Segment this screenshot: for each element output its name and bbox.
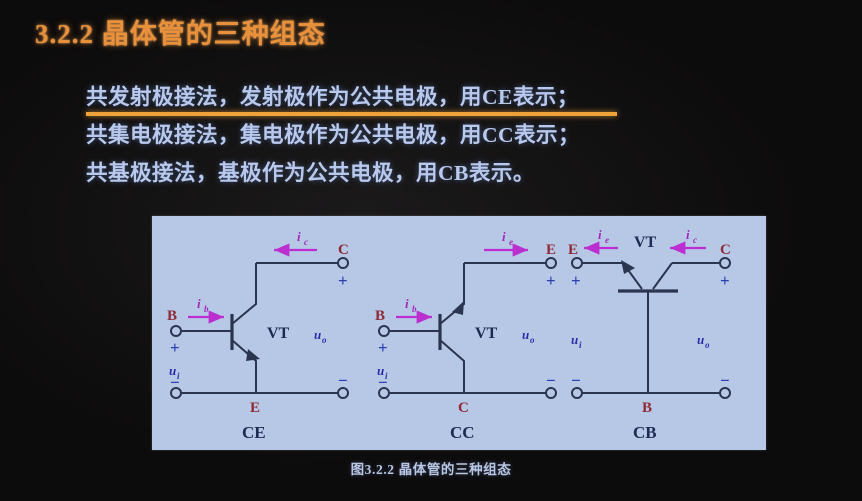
input-minus-sign: − <box>170 373 180 392</box>
bullet-line-cb: 共基极接法，基极作为公共电极，用CB表示。 <box>86 154 786 192</box>
output-minus-sign: − <box>546 371 556 390</box>
output-minus-sign: − <box>338 371 348 390</box>
output-plus-sign: + <box>720 271 730 290</box>
label-ic: i <box>297 229 301 244</box>
page-title: 3.2.2 晶体管的三种组态 <box>35 12 326 51</box>
config-label-cb: CB <box>633 423 657 442</box>
output-plus-sign: + <box>546 271 556 290</box>
slide-screen: 3.2.2 晶体管的三种组态 共发射极接法，发射极作为公共电极，用CE表示； 共… <box>0 0 862 501</box>
circuit-cb: i e i c E C B VT + u i − + u o − CB <box>568 227 731 442</box>
terminal-b: B <box>642 400 652 416</box>
figure-caption: 图3.2.2 晶体管的三种组态 <box>0 458 862 478</box>
terminal-b: B <box>375 308 385 324</box>
label-uo-sub: o <box>530 335 535 345</box>
terminal-e: E <box>250 400 260 416</box>
terminal-b: B <box>167 308 177 324</box>
input-minus-sign: − <box>378 373 388 392</box>
device-label-vt: VT <box>475 325 498 342</box>
input-plus-sign: + <box>170 338 180 357</box>
input-plus-sign: + <box>571 271 581 290</box>
device-label-vt: VT <box>267 325 290 342</box>
terminal-c: C <box>338 242 349 258</box>
figure-panel: i b i c B C E VT + u i − + u <box>152 216 766 450</box>
circuit-cc: i b i e B E C VT + u i − + u o − CC <box>375 229 556 442</box>
terminal-c: C <box>720 242 731 258</box>
bullet-list: 共发射极接法，发射极作为公共电极，用CE表示； 共集电极接法，集电极作为公共电极… <box>86 78 786 192</box>
input-plus-sign: + <box>378 338 388 357</box>
label-uo: u <box>522 327 529 342</box>
label-uo: u <box>314 327 321 342</box>
label-ui-sub: i <box>579 340 582 350</box>
circuit-ce: i b i c B C E VT + u i − + u <box>167 229 349 442</box>
terminal-e: E <box>546 242 556 258</box>
label-ie-sub: e <box>605 235 609 245</box>
input-minus-sign: − <box>571 371 581 390</box>
label-ib-sub: b <box>412 304 417 314</box>
terminal-c: C <box>458 400 469 416</box>
terminal-e: E <box>568 242 578 258</box>
label-uo-sub: o <box>705 340 710 350</box>
label-ib-sub: b <box>204 304 209 314</box>
config-label-ce: CE <box>242 423 266 442</box>
output-plus-sign: + <box>338 271 348 290</box>
label-uo-sub: o <box>322 335 327 345</box>
output-minus-sign: − <box>720 371 730 390</box>
label-ib: i <box>405 296 409 311</box>
label-ui: u <box>571 332 578 347</box>
label-ic-sub: c <box>304 237 308 247</box>
bullet-line-cc: 共集电极接法，集电极作为公共电极，用CC表示； <box>86 116 786 154</box>
label-ic: i <box>686 227 690 242</box>
bullet-line-ce: 共发射极接法，发射极作为公共电极，用CE表示； <box>86 78 786 116</box>
label-ie: i <box>598 227 602 242</box>
config-label-cc: CC <box>450 423 475 442</box>
label-ie-sub: e <box>509 237 513 247</box>
label-ie: i <box>502 229 506 244</box>
label-ib: i <box>197 296 201 311</box>
emphasis-underline <box>86 112 617 116</box>
device-label-vt: VT <box>634 234 657 251</box>
label-ic-sub: c <box>693 235 697 245</box>
label-uo: u <box>697 332 704 347</box>
